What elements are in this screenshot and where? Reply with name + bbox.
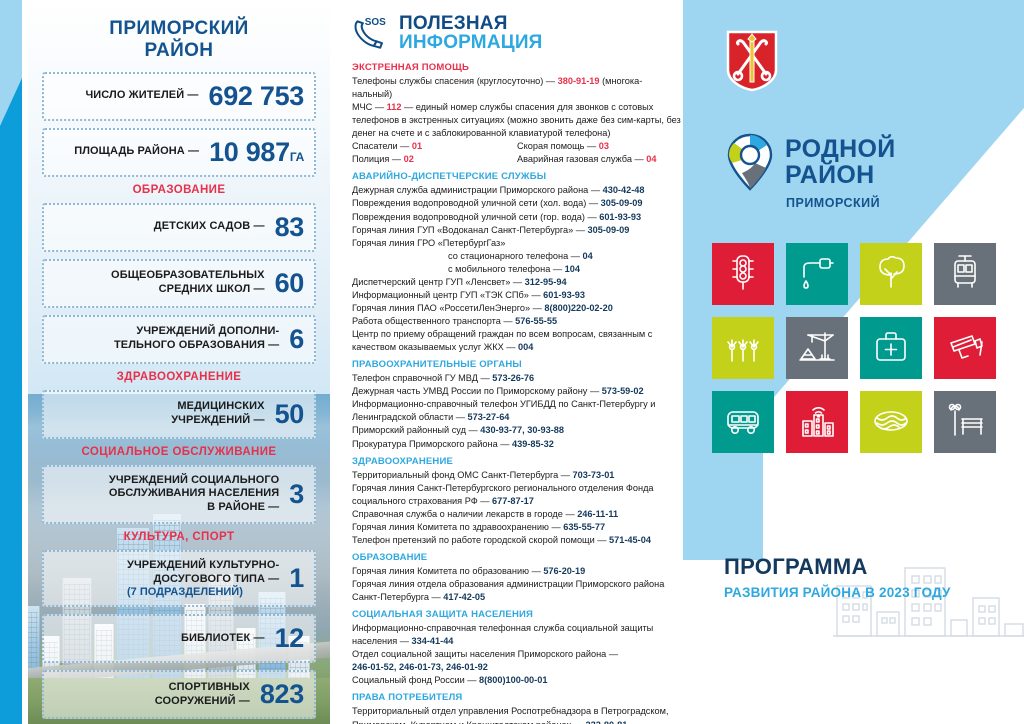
- stat-box: БИБЛИОТЕК —12: [42, 614, 316, 663]
- phone-number: 312-95-94: [525, 277, 567, 287]
- stat-sublabel: (7 ПОДРАЗДЕЛЕНИЙ): [127, 586, 279, 598]
- phone-number: 573-27-64: [468, 412, 510, 422]
- stat-label: УЧРЕЖДЕНИЙ КУЛЬТУРНО-: [127, 559, 279, 573]
- phone-number: 112: [387, 102, 402, 112]
- icon-tile-smart-city-wifi: [786, 391, 848, 453]
- stat-box: ОБЩЕОБРАЗОВАТЕЛЬНЫХСРЕДНИХ ШКОЛ —60: [42, 259, 316, 308]
- info-entry: Телефоны службы спасения (круглосуточно)…: [352, 75, 682, 101]
- phone-number: 601-93-93: [543, 290, 585, 300]
- stat-box: ДЕТСКИХ САДОВ —83: [42, 203, 316, 252]
- service-icon-grid: [712, 243, 996, 453]
- phone-number: 232-80-81: [585, 720, 627, 724]
- phone-number: 430-93-77, 30-93-88: [480, 425, 564, 435]
- icon-tile-security-camera: [934, 317, 996, 379]
- phone-number: 8(800)100-00-01: [479, 675, 547, 685]
- info-entry: Горячая линия ГРО «ПетербургГаз»: [352, 237, 682, 250]
- stat-label: ДЕТСКИХ САДОВ —: [154, 220, 265, 234]
- program-title-line1: ПРОГРАММА: [724, 554, 1014, 580]
- info-entry: Горячая линия Комитета по образованию — …: [352, 565, 682, 578]
- bus-icon: [724, 401, 762, 444]
- stat-value: 823: [260, 679, 304, 710]
- left-section-heading: КУЛЬТУРА, СПОРТ: [42, 531, 316, 543]
- stat-label-wrap: БИБЛИОТЕК —: [181, 632, 265, 646]
- info-entry: Телефон претензий по работе городской ск…: [352, 534, 682, 547]
- info-entry: Диспетчерский центр ГУП «Ленсвет» — 312-…: [352, 276, 682, 289]
- info-entry: Телефон справочной ГУ МВД — 573-26-76: [352, 372, 682, 385]
- left-section-heading: СОЦИАЛЬНОЕ ОБСЛУЖИВАНИЕ: [42, 446, 316, 458]
- info-entry: Территориальный фонд ОМС Санкт-Петербург…: [352, 469, 682, 482]
- phone-number: 04: [582, 251, 592, 261]
- left-content: ПРИМОРСКИЙ РАЙОН ЧИСЛО ЖИТЕЛЕЙ —692 753П…: [28, 0, 330, 724]
- program-title-line2: РАЗВИТИЯ РАЙОНА В 2023 ГОДУ: [724, 585, 1014, 600]
- phone-number: 576-20-19: [543, 566, 585, 576]
- stat-value: 10 987ГА: [209, 137, 304, 168]
- stat-label: ТЕЛЬНОГО ОБРАЗОВАНИЯ —: [114, 339, 279, 353]
- info-category-heading: ЭКСТРЕННАЯ ПОМОЩЬ: [352, 62, 682, 73]
- info-entry: Повреждения водопроводной уличной сети (…: [352, 197, 682, 210]
- first-aid-kit-icon: [872, 327, 910, 370]
- rodnoy-rayon-logo: РОДНОЙ РАЙОН ПРИМОРСКИЙ: [725, 133, 1015, 210]
- info-entry: Работа общественного транспорта — 576-55…: [352, 315, 682, 328]
- stat-box: УЧРЕЖДЕНИЙ ДОПОЛНИ-ТЕЛЬНОГО ОБРАЗОВАНИЯ …: [42, 315, 316, 364]
- tree-icon: [872, 253, 910, 296]
- phone-number: 246-01-52, 246-01-73, 246-01-92: [352, 662, 488, 672]
- sos-phone-icon: SOS: [352, 15, 392, 51]
- stat-unit: ГА: [290, 150, 304, 164]
- phone-number: 601-93-93: [599, 212, 641, 222]
- info-entry: Горячая линия Санкт-Петербургского регио…: [352, 482, 682, 508]
- info-entry: Прокуратура Приморского района — 439-85-…: [352, 438, 682, 451]
- stat-label: МЕДИЦИНСКИХ: [171, 400, 264, 414]
- info-entry: Информационно-справочная телефонная служ…: [352, 622, 682, 648]
- icon-tile-bus: [712, 391, 774, 453]
- stat-value: 692 753: [209, 81, 305, 112]
- page-title: ПРИМОРСКИЙ РАЙОН: [42, 18, 316, 62]
- icon-tile-tram: [934, 243, 996, 305]
- stat-label: В РАЙОНЕ —: [109, 501, 279, 515]
- construction-crane-icon: [798, 327, 836, 370]
- stat-label: ОБСЛУЖИВАНИЯ НАСЕЛЕНИЯ: [109, 487, 279, 501]
- phone-number: 305-09-09: [587, 225, 629, 235]
- brochure-page: ПРИМОРСКИЙ РАЙОН ЧИСЛО ЖИТЕЛЕЙ —692 753П…: [0, 0, 1024, 724]
- stat-label: УЧРЕЖДЕНИЙ —: [171, 414, 264, 428]
- tram-icon: [946, 253, 984, 296]
- stat-label-wrap: МЕДИЦИНСКИХУЧРЕЖДЕНИЙ —: [171, 400, 264, 428]
- phone-number: 571-45-04: [609, 535, 651, 545]
- info-entry: Информационно-справочный телефон УГИБДД …: [352, 398, 682, 424]
- phone-number: 576-55-55: [515, 316, 557, 326]
- info-entry: Дежурная часть УМВД России по Приморском…: [352, 385, 682, 398]
- stat-box: СПОРТИВНЫХСООРУЖЕНИЙ —823: [42, 670, 316, 719]
- phone-number: 305-09-09: [601, 198, 643, 208]
- stat-label-wrap: ЧИСЛО ЖИТЕЛЕЙ —: [85, 89, 198, 103]
- phone-number: 573-26-76: [492, 373, 534, 383]
- icon-tile-traffic-light: [712, 243, 774, 305]
- water-tap-icon: [798, 253, 836, 296]
- stat-label: БИБЛИОТЕК —: [181, 632, 265, 646]
- smart-city-wifi-icon: [798, 401, 836, 444]
- phone-number: 334-41-44: [412, 636, 454, 646]
- info-entry-pair-row: Спасатели — 01Скорая помощь — 03: [352, 140, 682, 153]
- stat-label-wrap: УЧРЕЖДЕНИЙ КУЛЬТУРНО-ДОСУГОВОГО ТИПА —(7…: [127, 559, 279, 599]
- stat-label: СПОРТИВНЫХ: [155, 681, 250, 695]
- flowers-icon: [724, 327, 762, 370]
- stat-value: 3: [289, 479, 304, 510]
- stat-label-wrap: ПЛОЩАДЬ РАЙОНА —: [74, 145, 199, 159]
- left-edge-chevron-lower: [0, 620, 22, 724]
- info-entry: Отдел социальной защиты населения Примор…: [352, 648, 682, 674]
- stat-label-wrap: УЧРЕЖДЕНИЙ ДОПОЛНИ-ТЕЛЬНОГО ОБРАЗОВАНИЯ …: [114, 325, 279, 353]
- info-entry: Горячая линия ПАО «РоссетиЛенЭнерго» — 8…: [352, 302, 682, 315]
- info-entry-indented: с мобильного телефона — 104: [352, 263, 682, 276]
- info-entry: Горячая линия ГУП «Водоканал Санкт-Петер…: [352, 224, 682, 237]
- info-entry-pair-row: Полиция — 02Аварийная газовая служба — 0…: [352, 153, 682, 166]
- info-entry: Социальный фонд России — 8(800)100-00-01: [352, 674, 682, 687]
- stat-label: ПЛОЩАДЬ РАЙОНА —: [74, 145, 199, 159]
- stat-value: 83: [275, 212, 304, 243]
- info-entry: Повреждения водопроводной уличной сети (…: [352, 211, 682, 224]
- district-title-line2: РАЙОН: [42, 40, 316, 62]
- info-entry: МЧС — 112 — единый номер службы спасения…: [352, 101, 682, 140]
- info-category-heading: АВАРИЙНО-ДИСПЕТЧЕРСКИЕ СЛУЖБЫ: [352, 171, 682, 182]
- stat-box: ПЛОЩАДЬ РАЙОНА —10 987ГА: [42, 128, 316, 177]
- right-panel-content: РОДНОЙ РАЙОН ПРИМОРСКИЙ: [683, 0, 1024, 724]
- phone-number: 380-91-19: [558, 76, 600, 86]
- info-category-heading: ПРАВА ПОТРЕБИТЕЛЯ: [352, 692, 682, 703]
- info-entry: Справочная служба о наличии лекарств в г…: [352, 508, 682, 521]
- stat-label: СООРУЖЕНИЙ —: [155, 695, 250, 709]
- phone-number: 439-85-32: [512, 439, 554, 449]
- left-section-heading: ОБРАЗОВАНИЕ: [42, 184, 316, 196]
- info-entry: Информационный центр ГУП «ТЭК СПб» — 601…: [352, 289, 682, 302]
- logo-subtitle: ПРИМОРСКИЙ: [786, 196, 1015, 210]
- phone-number: 02: [404, 154, 414, 164]
- logo-title-line2: РАЙОН: [785, 162, 896, 188]
- useful-information-header: SOS ПОЛЕЗНАЯ ИНФОРМАЦИЯ: [352, 14, 682, 53]
- info-entry: Горячая линия отдела образования админис…: [352, 578, 682, 604]
- info-category-heading: ОБРАЗОВАНИЕ: [352, 552, 682, 563]
- info-entry: Горячая линия Комитета по здравоохранени…: [352, 521, 682, 534]
- phone-number: 430-42-48: [603, 185, 645, 195]
- stat-label: ДОСУГОВОГО ТИПА —: [127, 573, 279, 587]
- program-block: ПРОГРАММА РАЗВИТИЯ РАЙОНА В 2023 ГОДУ: [724, 554, 1014, 600]
- stat-box: ЧИСЛО ЖИТЕЛЕЙ —692 753: [42, 72, 316, 121]
- stat-value: 50: [275, 399, 304, 430]
- traffic-light-icon: [724, 253, 762, 296]
- stat-label: ОБЩЕОБРАЗОВАТЕЛЬНЫХ: [111, 269, 265, 283]
- icon-tile-playground-surface: [860, 391, 922, 453]
- stat-box: МЕДИЦИНСКИХУЧРЕЖДЕНИЙ —50: [42, 390, 316, 439]
- phone-number: 635-55-77: [563, 522, 605, 532]
- stat-label: УЧРЕЖДЕНИЙ СОЦИАЛЬНОГО: [109, 474, 279, 488]
- useful-information-column: SOS ПОЛЕЗНАЯ ИНФОРМАЦИЯ ЭКСТРЕННАЯ ПОМОЩ…: [352, 14, 682, 714]
- map-pin-logo-icon: [725, 133, 775, 191]
- phone-number: 8(800)220-02-20: [544, 303, 612, 313]
- info-entry: Аварийная газовая служба — 04: [517, 153, 682, 166]
- phone-number: 417-42-05: [443, 592, 485, 602]
- phone-number: 246-11-11: [577, 509, 618, 519]
- info-category-heading: ЗДРАВООХРАНЕНИЕ: [352, 456, 682, 467]
- phone-number: 703-73-01: [573, 470, 615, 480]
- phone-number: 03: [599, 141, 609, 151]
- stat-label-wrap: СПОРТИВНЫХСООРУЖЕНИЙ —: [155, 681, 250, 709]
- stat-value: 12: [275, 623, 304, 654]
- left-stats-container: ЧИСЛО ЖИТЕЛЕЙ —692 753ПЛОЩАДЬ РАЙОНА —10…: [42, 72, 316, 720]
- left-edge-chevron: [0, 78, 22, 678]
- info-category-heading: ПРАВООХРАНИТЕЛЬНЫЕ ОРГАНЫ: [352, 359, 682, 370]
- stat-box: УЧРЕЖДЕНИЙ СОЦИАЛЬНОГООБСЛУЖИВАНИЯ НАСЕЛ…: [42, 465, 316, 524]
- phone-number: 01: [412, 141, 422, 151]
- logo-title-line1: РОДНОЙ: [785, 136, 896, 162]
- icon-tile-water-tap: [786, 243, 848, 305]
- useful-information-title-line1: ПОЛЕЗНАЯ: [399, 14, 543, 33]
- icon-tile-first-aid-kit: [860, 317, 922, 379]
- left-section-heading: ЗДРАВООХРАНЕНИЕ: [42, 371, 316, 383]
- icon-tile-construction-crane: [786, 317, 848, 379]
- icon-tile-tree: [860, 243, 922, 305]
- icon-tile-flowers: [712, 317, 774, 379]
- phone-number: 004: [518, 342, 533, 352]
- district-title-line1: ПРИМОРСКИЙ: [42, 18, 316, 40]
- info-entry: Приморский районный суд — 430-93-77, 30-…: [352, 424, 682, 437]
- left-statistics-column: ПРИМОРСКИЙ РАЙОН ЧИСЛО ЖИТЕЛЕЙ —692 753П…: [0, 0, 330, 724]
- info-entry: Дежурная служба администрации Приморског…: [352, 184, 682, 197]
- info-category-heading: СОЦИАЛЬНАЯ ЗАЩИТА НАСЕЛЕНИЯ: [352, 609, 682, 620]
- info-entry-indented: со стационарного телефона — 04: [352, 250, 682, 263]
- phone-number: 677-87-17: [492, 496, 534, 506]
- info-entry: Полиция — 02: [352, 153, 517, 166]
- stat-label: СРЕДНИХ ШКОЛ —: [111, 283, 265, 297]
- info-entry: Скорая помощь — 03: [517, 140, 682, 153]
- useful-information-body: ЭКСТРЕННАЯ ПОМОЩЬТелефоны службы спасени…: [352, 62, 682, 724]
- stat-value: 1: [289, 563, 304, 594]
- park-bench-lamp-icon: [946, 401, 984, 444]
- phone-number: 573-59-02: [602, 386, 644, 396]
- info-entry: Спасатели — 01: [352, 140, 517, 153]
- info-entry: Центр по приему обращений граждан по все…: [352, 328, 682, 354]
- stat-value: 60: [275, 268, 304, 299]
- saint-petersburg-coat-of-arms: [726, 30, 778, 92]
- stat-box: УЧРЕЖДЕНИЙ КУЛЬТУРНО-ДОСУГОВОГО ТИПА —(7…: [42, 550, 316, 608]
- phone-number: 104: [565, 264, 580, 274]
- stat-label: ЧИСЛО ЖИТЕЛЕЙ —: [85, 89, 198, 103]
- stat-label-wrap: ОБЩЕОБРАЗОВАТЕЛЬНЫХСРЕДНИХ ШКОЛ —: [111, 269, 265, 297]
- svg-text:SOS: SOS: [365, 17, 386, 28]
- stat-label-wrap: ДЕТСКИХ САДОВ —: [154, 220, 265, 234]
- phone-number: 04: [646, 154, 656, 164]
- useful-information-title-line2: ИНФОРМАЦИЯ: [399, 33, 543, 53]
- stat-label: УЧРЕЖДЕНИЙ ДОПОЛНИ-: [114, 325, 279, 339]
- playground-surface-icon: [872, 401, 910, 444]
- icon-tile-park-bench-lamp: [934, 391, 996, 453]
- info-entry: Территориальный отдел управления Роспотр…: [352, 705, 682, 724]
- security-camera-icon: [946, 327, 984, 370]
- stat-value: 6: [289, 324, 304, 355]
- stat-label-wrap: УЧРЕЖДЕНИЙ СОЦИАЛЬНОГООБСЛУЖИВАНИЯ НАСЕЛ…: [109, 474, 279, 515]
